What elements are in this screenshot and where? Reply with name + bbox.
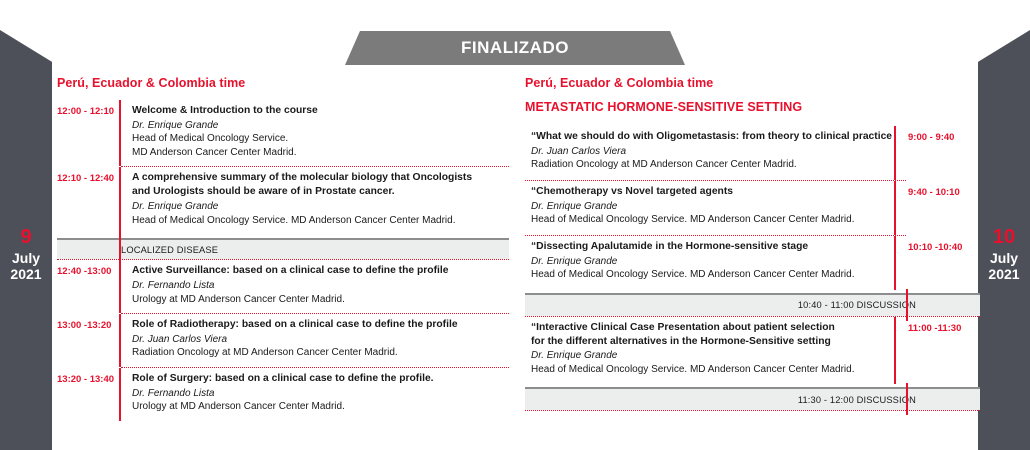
section-banner-accent-bar (119, 234, 121, 263)
session-speaker: Dr. Juan Carlos Viera (132, 333, 509, 347)
session-row: 13:20 - 13:40 Role of Surgery: based on … (57, 368, 509, 421)
session-body: Role of Radiotherapy: based on a clinica… (121, 314, 509, 367)
discussion-banner-wrapper: 11:30 - 12:00 DISCUSSION (525, 387, 980, 410)
section-banner-label: LOCALIZED DISEASE (57, 245, 218, 255)
session-separator (525, 410, 980, 411)
session-affiliation: Urology at MD Anderson Cancer Center Mad… (132, 400, 509, 414)
date-panel-day-one: 9 July 2021 (0, 30, 52, 450)
session-row: “Chemotherapy vs Novel targeted agents D… (525, 181, 980, 235)
session-row: 12:10 - 12:40 A comprehensive summary of… (57, 167, 509, 234)
session-body: A comprehensive summary of the molecular… (121, 167, 509, 234)
session-affiliation: Head of Medical Oncology Service. MD And… (531, 268, 894, 282)
session-title: Role of Surgery: based on a clinical cas… (132, 372, 509, 386)
session-time: 13:00 -13:20 (57, 314, 119, 367)
session-row: “Dissecting Apalutamide in the Hormone-s… (525, 236, 980, 290)
session-time: 11:00 -11:30 (896, 317, 980, 385)
session-speaker: Dr. Enrique Grande (531, 200, 894, 214)
discussion-banner-label: 11:30 - 12:00 DISCUSSION (798, 395, 980, 405)
session-time: 9:00 - 9:40 (896, 126, 980, 180)
session-body: Welcome & Introduction to the course Dr.… (121, 100, 509, 166)
session-affiliation: Head of Medical Oncology Service. MD And… (132, 214, 509, 228)
day-two-section-header: METASTATIC HORMONE-SENSITIVE SETTING (525, 100, 980, 114)
session-affiliation: Head of Medical Oncology Service. (132, 132, 509, 146)
session-title: Role of Radiotherapy: based on a clinica… (132, 318, 509, 332)
session-title: “Dissecting Apalutamide in the Hormone-s… (531, 240, 894, 254)
day-two-timezone-header: Perú, Ecuador & Colombia time (525, 76, 980, 90)
session-title: and Urologists should be aware of in Pro… (132, 185, 509, 199)
date-panel-right-day: 10 (978, 226, 1030, 250)
session-title: Welcome & Introduction to the course (132, 104, 509, 118)
date-panel-day-two: 10 July 2021 (978, 30, 1030, 450)
session-body: Role of Surgery: based on a clinical cas… (121, 368, 509, 421)
date-panel-right-year: 2021 (978, 266, 1030, 283)
session-row: “Interactive Clinical Case Presentation … (525, 317, 980, 385)
discussion-banner: 11:30 - 12:00 DISCUSSION (525, 387, 980, 410)
session-body: Active Surveillance: based on a clinical… (121, 260, 509, 313)
session-speaker: Dr. Fernando Lista (132, 387, 509, 401)
session-row: 13:00 -13:20 Role of Radiotherapy: based… (57, 314, 509, 367)
discussion-banner-accent-bar (906, 383, 908, 415)
session-time: 12:10 - 12:40 (57, 167, 119, 234)
session-time: 13:20 - 13:40 (57, 368, 119, 421)
session-affiliation: Radiation Oncology at MD Anderson Cancer… (132, 346, 509, 360)
session-time: 12:40 -13:00 (57, 260, 119, 313)
date-panel-right-date: 10 July 2021 (978, 226, 1030, 283)
session-row: 12:00 - 12:10 Welcome & Introduction to … (57, 100, 509, 166)
session-speaker: Dr. Fernando Lista (132, 279, 509, 293)
session-body: “Chemotherapy vs Novel targeted agents D… (525, 181, 894, 235)
date-panel-left-month: July (0, 250, 52, 267)
date-panel-left-day: 9 (0, 226, 52, 250)
status-banner: FINALIZADO (345, 31, 685, 65)
day-one-timezone-header: Perú, Ecuador & Colombia time (57, 76, 509, 90)
agenda-root: 9 July 2021 10 July 2021 FINALIZADO Perú… (0, 0, 1030, 450)
session-speaker: Dr. Enrique Grande (531, 349, 894, 363)
session-row: “What we should do with Oligometastasis:… (525, 126, 980, 180)
session-affiliation: MD Anderson Cancer Center Madrid. (132, 146, 509, 160)
session-affiliation: Head of Medical Oncology Service. MD And… (531, 363, 894, 377)
date-panel-right-month: July (978, 250, 1030, 267)
session-body: “What we should do with Oligometastasis:… (525, 126, 894, 180)
session-title: “Chemotherapy vs Novel targeted agents (531, 185, 894, 199)
session-title: A comprehensive summary of the molecular… (132, 171, 509, 185)
session-body: “Interactive Clinical Case Presentation … (525, 317, 894, 385)
session-speaker: Dr. Juan Carlos Viera (531, 145, 894, 159)
session-title: Active Surveillance: based on a clinical… (132, 264, 509, 278)
session-time: 10:10 -10:40 (896, 236, 980, 290)
discussion-banner-label: 10:40 - 11:00 DISCUSSION (798, 300, 980, 310)
session-time: 12:00 - 12:10 (57, 100, 119, 166)
session-title: “Interactive Clinical Case Presentation … (531, 321, 894, 335)
status-banner-label: FINALIZADO (461, 38, 569, 58)
discussion-banner: 10:40 - 11:00 DISCUSSION (525, 293, 980, 316)
date-panel-left-date: 9 July 2021 (0, 226, 52, 283)
session-affiliation: Urology at MD Anderson Cancer Center Mad… (132, 293, 509, 307)
session-affiliation: Radiation Oncology at MD Anderson Cancer… (531, 158, 894, 172)
session-speaker: Dr. Enrique Grande (531, 255, 894, 269)
session-title: for the different alternatives in the Ho… (531, 335, 894, 349)
section-banner-wrapper: LOCALIZED DISEASE (57, 238, 509, 259)
session-body: “Dissecting Apalutamide in the Hormone-s… (525, 236, 894, 290)
session-speaker: Dr. Enrique Grande (132, 119, 509, 133)
session-row: 12:40 -13:00 Active Surveillance: based … (57, 260, 509, 313)
session-affiliation: Head of Medical Oncology Service. MD And… (531, 213, 894, 227)
agenda-column-day-two: Perú, Ecuador & Colombia time METASTATIC… (525, 76, 980, 411)
agenda-column-day-one: Perú, Ecuador & Colombia time 12:00 - 12… (57, 76, 509, 421)
session-title: “What we should do with Oligometastasis:… (531, 130, 894, 144)
section-banner: LOCALIZED DISEASE (57, 238, 509, 259)
discussion-banner-wrapper: 10:40 - 11:00 DISCUSSION (525, 293, 980, 316)
session-speaker: Dr. Enrique Grande (132, 200, 509, 214)
session-time: 9:40 - 10:10 (896, 181, 980, 235)
date-panel-left-year: 2021 (0, 266, 52, 283)
